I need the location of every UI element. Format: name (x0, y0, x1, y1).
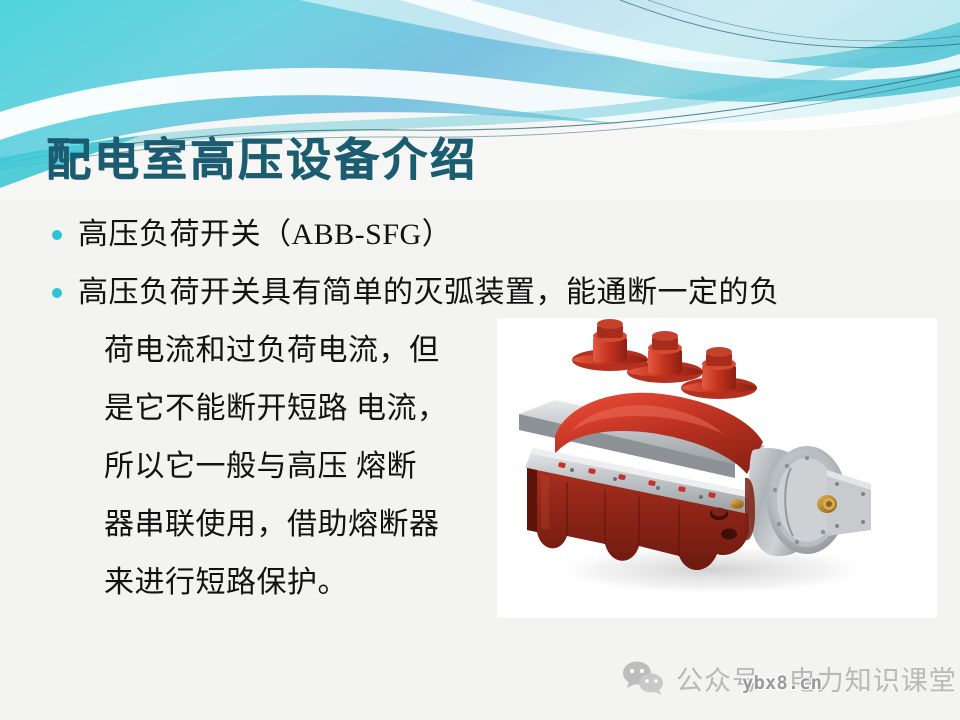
list-item-label: 是它不能断开短路 电流， (78, 380, 448, 438)
bullet-spacer (52, 578, 62, 588)
slide-canvas: 配电室高压设备介绍 高压负荷开关（ABB-SFG） 高压负荷开关具有简单的灭弧装… (0, 0, 960, 720)
list-item-label: 高压负荷开关具有简单的灭弧装置，能通断一定的负 (78, 264, 780, 322)
bullet-spacer (52, 462, 62, 472)
list-item: 高压负荷开关具有简单的灭弧装置，能通断一定的负 (52, 264, 932, 322)
list-item-label: 器串联使用，借助熔断器 (78, 496, 440, 554)
bullet-dot-icon (52, 230, 62, 240)
bullet-spacer (52, 346, 62, 356)
bullet-dot-icon (52, 288, 62, 298)
list-item-label: 荷电流和过负荷电流，但 (78, 322, 440, 380)
equipment-photo (497, 318, 937, 618)
list-item-label: 高压负荷开关（ABB-SFG） (78, 206, 452, 264)
bullet-spacer (52, 520, 62, 530)
watermark-url: ybx8.cn (742, 672, 822, 694)
list-item: 高压负荷开关（ABB-SFG） (52, 206, 932, 264)
list-item-label: 所以它一般与高压 熔断 (78, 438, 417, 496)
bullet-spacer (52, 404, 62, 414)
page-title: 配电室高压设备介绍 (46, 123, 478, 188)
list-item-label: 来进行短路保护。 (78, 554, 348, 612)
wechat-icon (622, 661, 666, 695)
